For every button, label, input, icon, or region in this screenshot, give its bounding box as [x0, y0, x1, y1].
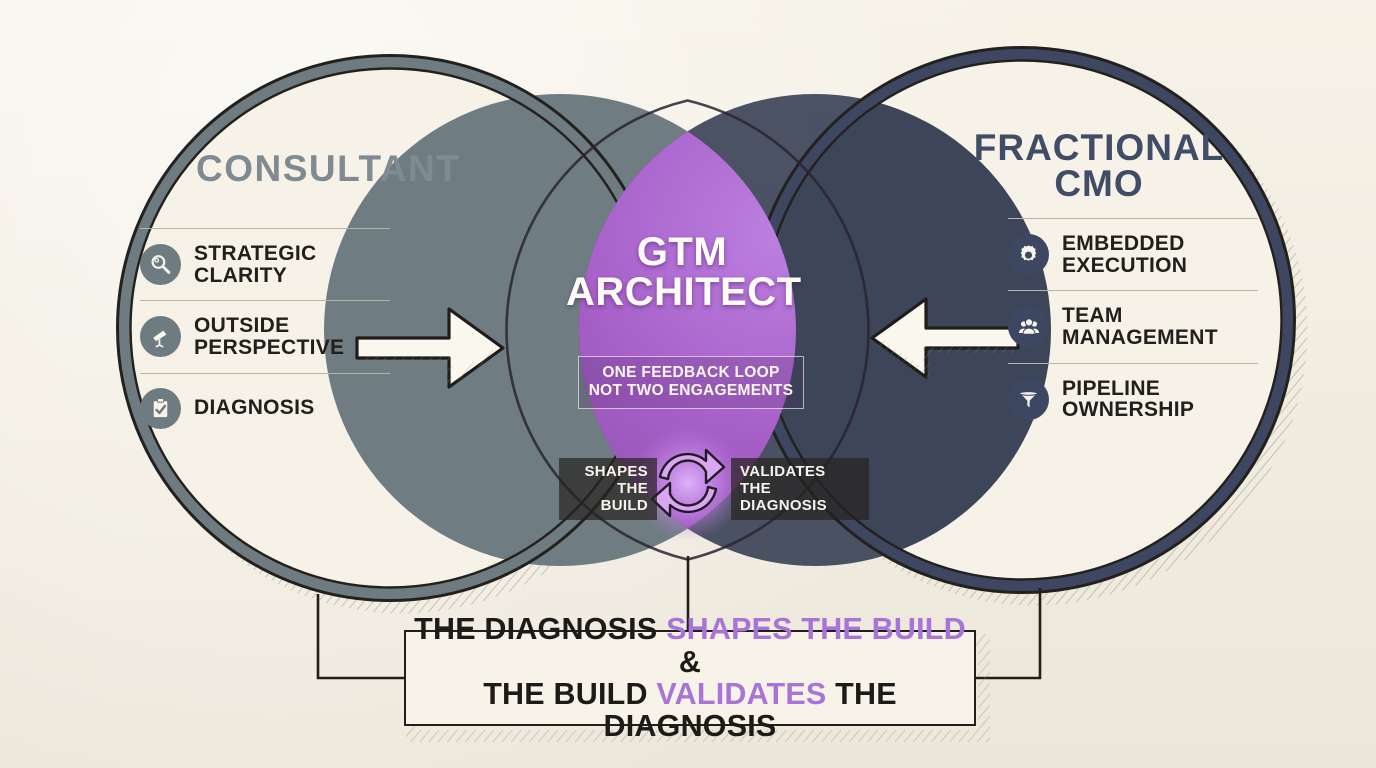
feature-label: OUTSIDE PERSPECTIVE: [194, 315, 390, 358]
feature-label: TEAM MANAGEMENT: [1062, 305, 1258, 348]
center-title: GTM ARCHITECT: [566, 233, 798, 312]
feature-item-diagnosis[interactable]: DIAGNOSIS: [140, 374, 390, 443]
feedback-callout-line-1: ONE FEEDBACK LOOP: [585, 364, 797, 382]
center-title-line-1: GTM: [566, 233, 798, 273]
feature-label: PIPELINE OWNERSHIP: [1062, 378, 1258, 421]
summary-banner-text: THE DIAGNOSIS SHAPES THE BUILD & THE BUI…: [406, 613, 974, 742]
banner-l1-part-c: &: [679, 645, 701, 679]
fractional-cmo-feature-list: EMBEDDED EXECUTION TEAM MANAGEMENT: [1008, 218, 1258, 435]
feature-item-team-management[interactable]: TEAM MANAGEMENT: [1008, 291, 1258, 362]
tag-left-line-1: SHAPES: [568, 464, 648, 481]
feedback-callout-line-2: NOT TWO ENGAGEMENTS: [585, 382, 797, 400]
team-icon: [1008, 306, 1049, 347]
banner-l1-part-a: THE DIAGNOSIS: [414, 612, 666, 646]
gear-icon: [1008, 234, 1049, 275]
tag-right-line-1: VALIDATES: [740, 464, 860, 481]
right-circle-title: FRACTIONAL CMO: [968, 130, 1230, 203]
banner-l1-highlight: SHAPES THE BUILD: [666, 612, 966, 646]
summary-banner: THE DIAGNOSIS SHAPES THE BUILD & THE BUI…: [404, 630, 976, 726]
tag-left-line-2: THE BUILD: [568, 481, 648, 515]
feedback-callout: ONE FEEDBACK LOOP NOT TWO ENGAGEMENTS: [578, 356, 804, 409]
right-circle-title-text: FRACTIONAL CMO: [974, 127, 1224, 204]
feature-item-strategic-clarity[interactable]: STRATEGIC CLARITY: [140, 229, 390, 300]
consultant-feature-list: STRATEGIC CLARITY OUTSIDE PERSPECTIVE: [140, 228, 390, 443]
telescope-icon: [140, 316, 181, 357]
feature-item-pipeline-ownership[interactable]: PIPELINE OWNERSHIP: [1008, 364, 1258, 435]
infographic-canvas: CONSULTANT STRATEGIC CLARITY: [0, 0, 1376, 768]
feature-label: EMBEDDED EXECUTION: [1062, 233, 1258, 276]
tag-shapes-the-build: SHAPES THE BUILD: [559, 458, 657, 520]
feature-label: STRATEGIC CLARITY: [194, 243, 390, 286]
tag-right-line-2: THE DIAGNOSIS: [740, 481, 860, 515]
funnel-icon: [1008, 379, 1049, 420]
banner-l2-part-a: THE BUILD: [483, 677, 656, 711]
banner-l2-highlight: VALIDATES: [656, 677, 826, 711]
summary-banner-line-2: THE BUILD VALIDATES THE DIAGNOSIS: [406, 678, 974, 743]
left-circle-title: CONSULTANT: [196, 148, 448, 190]
magnifier-icon: [140, 244, 181, 285]
clipboard-check-icon: [140, 388, 181, 429]
feature-label: DIAGNOSIS: [194, 397, 315, 419]
tag-validates-the-diagnosis: VALIDATES THE DIAGNOSIS: [731, 458, 869, 520]
summary-banner-line-1: THE DIAGNOSIS SHAPES THE BUILD &: [406, 613, 974, 678]
feature-item-outside-perspective[interactable]: OUTSIDE PERSPECTIVE: [140, 301, 390, 372]
feature-item-embedded-execution[interactable]: EMBEDDED EXECUTION: [1008, 219, 1258, 290]
center-title-line-2: ARCHITECT: [566, 273, 798, 313]
